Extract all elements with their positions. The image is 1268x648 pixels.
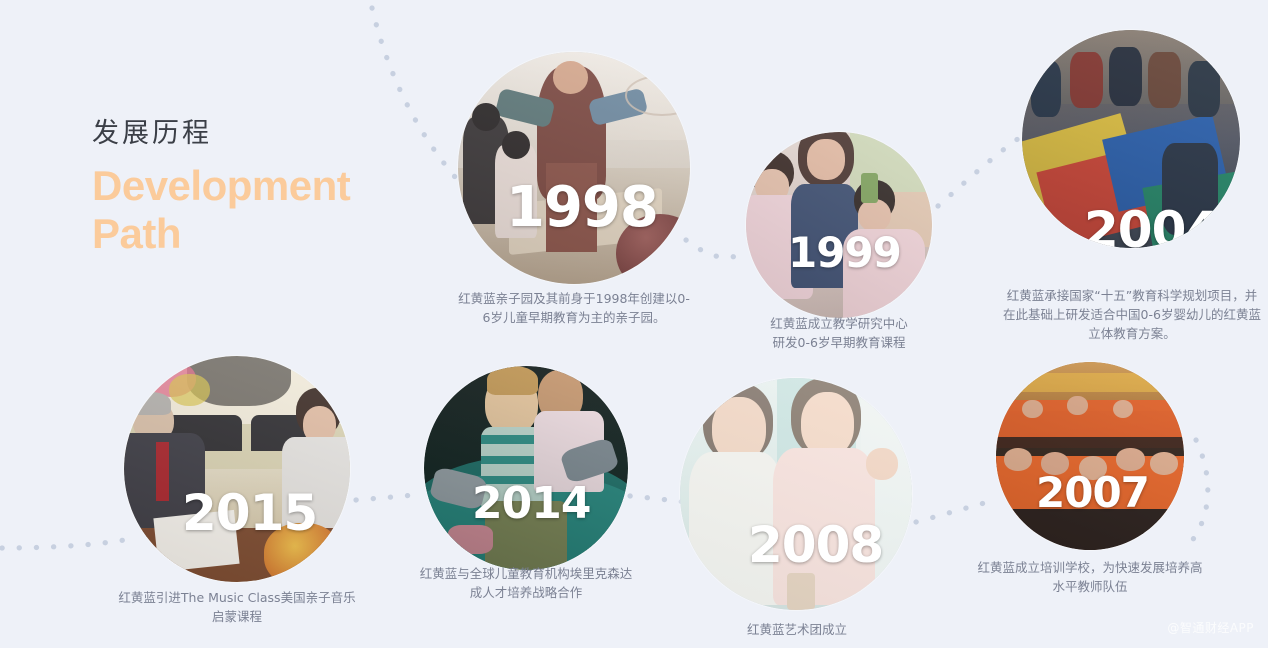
- caption-2014: 红黄蓝与全球儿童教育机构埃里克森达成人才培养战略合作: [418, 564, 634, 602]
- page-title-en-line2: Path: [92, 210, 350, 258]
- year-label-1999: 1999: [788, 232, 901, 274]
- page-title-en: Development Path: [92, 162, 350, 258]
- caption-2004: 红黄蓝承接国家“十五”教育科学规划项目，并在此基础上研发适合中国0-6岁婴幼儿的…: [1002, 286, 1262, 343]
- photo-2008-two-smiling-girls: 2008: [680, 378, 912, 610]
- caption-2007: 红黄蓝成立培训学校，为快速发展培养高水平教师队伍: [974, 558, 1206, 596]
- page-title-cn: 发展历程: [92, 118, 350, 150]
- year-label-2014: 2014: [472, 482, 590, 526]
- year-label-2015: 2015: [182, 488, 317, 538]
- photo-2007-teachers-orange-uniform: 2007: [996, 362, 1184, 550]
- milestone-2014[interactable]: 2014 红黄蓝与全球儿童教育机构埃里克森达成人才培养战略合作: [424, 366, 628, 570]
- caption-2008: 红黄蓝艺术团成立: [684, 620, 910, 639]
- watermark: @智通财经APP: [1167, 619, 1254, 636]
- milestone-1999[interactable]: 1999 红黄蓝成立教学研究中心研发0-6岁早期教育课程: [746, 132, 932, 318]
- caption-2015: 红黄蓝引进The Music Class美国亲子音乐启蒙课程: [118, 588, 356, 626]
- milestone-2015[interactable]: 2015 红黄蓝引进The Music Class美国亲子音乐启蒙课程: [124, 356, 350, 582]
- year-label-1998: 1998: [506, 180, 658, 236]
- milestone-2008[interactable]: 2008 红黄蓝艺术团成立: [680, 378, 912, 610]
- page-title-block: 发展历程 Development Path: [92, 118, 350, 258]
- year-label-2004: 2004: [1084, 205, 1219, 248]
- milestone-2007[interactable]: 2007 红黄蓝成立培训学校，为快速发展培养高水平教师队伍: [996, 362, 1184, 550]
- year-label-2008: 2008: [748, 520, 883, 570]
- photo-2004-gym-mat-activity: 2004: [1022, 30, 1240, 248]
- page-title-en-line1: Development: [92, 162, 350, 210]
- milestone-1998[interactable]: 1998 红黄蓝亲子园及其前身于1998年创建以0-6岁儿童早期教育为主的亲子园…: [458, 52, 690, 284]
- photo-2014-children-playing: 2014: [424, 366, 628, 570]
- year-label-2007: 2007: [1036, 472, 1149, 514]
- photo-2015-signing-ceremony: 2015: [124, 356, 350, 582]
- photo-1998-classroom-balance-beam: 1998: [458, 52, 690, 284]
- caption-1999: 红黄蓝成立教学研究中心研发0-6岁早期教育课程: [730, 314, 948, 352]
- timeline-infographic: 发展历程 Development Path: [0, 0, 1268, 648]
- milestone-2004[interactable]: 2004 红黄蓝承接国家“十五”教育科学规划项目，并在此基础上研发适合中国0-6…: [1022, 30, 1240, 248]
- caption-1998: 红黄蓝亲子园及其前身于1998年创建以0-6岁儿童早期教育为主的亲子园。: [456, 289, 692, 327]
- photo-1999-teacher-with-toddlers: 1999: [746, 132, 932, 318]
